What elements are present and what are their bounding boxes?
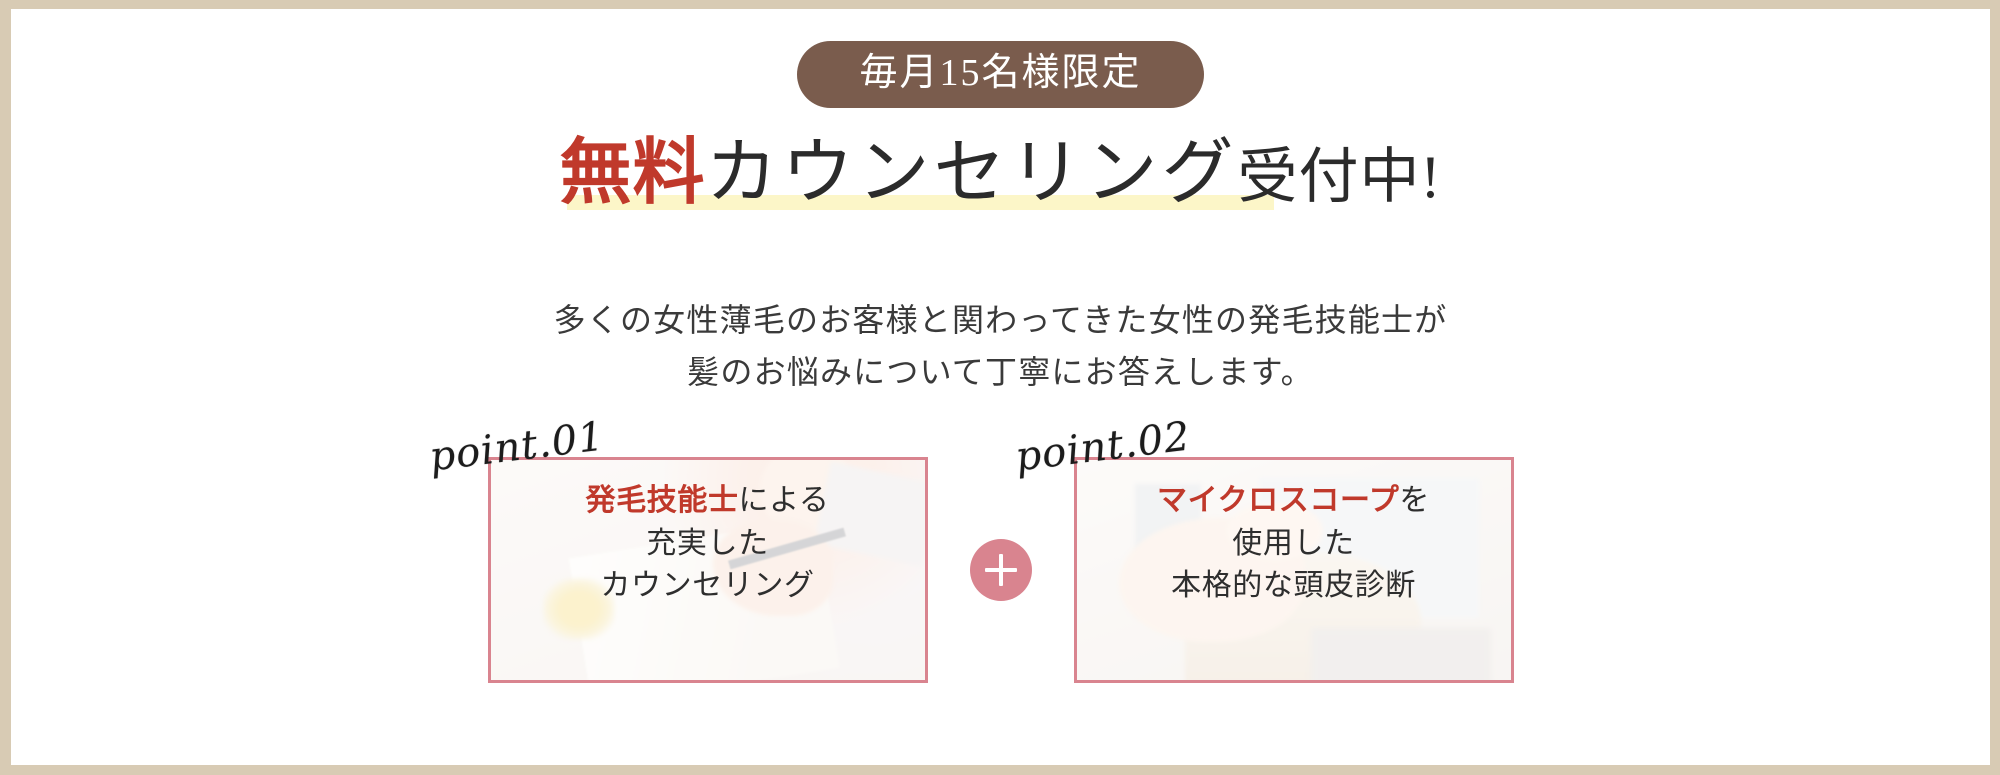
point-card-01-text: 発毛技能士による 充実した カウンセリング bbox=[491, 460, 925, 608]
point-02-line-2: 使用した bbox=[1077, 523, 1511, 566]
point-01-line-3: カウンセリング bbox=[491, 565, 925, 608]
plus-icon-vertical-bar bbox=[999, 554, 1003, 586]
point-card-01: point.01 発毛技能士による 充実した カウンセリング bbox=[488, 457, 928, 683]
headline-accepting-now: 受付中! bbox=[1238, 144, 1442, 210]
plus-icon bbox=[970, 539, 1032, 601]
page-frame: 毎月15名様限定 無料カウンセリング受付中! 多くの女性薄毛のお客様と関わってき… bbox=[0, 0, 2000, 775]
point-card-02-text: マイクロスコープを 使用した 本格的な頭皮診断 bbox=[1077, 460, 1511, 608]
headline-highlight-free: 無料 bbox=[559, 133, 705, 213]
point-card-02: point.02 マイクロスコープを 使用した 本格的な頭皮診断 bbox=[1074, 457, 1514, 683]
badge-container: 毎月15名様限定 bbox=[11, 41, 1990, 108]
point-02-line-3: 本格的な頭皮診断 bbox=[1077, 565, 1511, 608]
point-02-strong: マイクロスコープ bbox=[1157, 484, 1399, 517]
limited-offer-badge: 毎月15名様限定 bbox=[797, 41, 1203, 108]
page-content: 毎月15名様限定 無料カウンセリング受付中! 多くの女性薄毛のお客様と関わってき… bbox=[11, 9, 1990, 765]
point-01-line-2: 充実した bbox=[491, 523, 925, 566]
point-01-line-1-rest: による bbox=[739, 484, 830, 517]
page-title: 無料カウンセリング受付中! bbox=[559, 135, 1441, 213]
point-01-line-1: 発毛技能士による bbox=[491, 480, 925, 523]
headline-container: 無料カウンセリング受付中! bbox=[11, 135, 1990, 213]
point-01-strong: 発毛技能士 bbox=[586, 484, 739, 517]
points-row: point.01 発毛技能士による 充実した カウンセリング bbox=[11, 457, 1990, 683]
headline-counseling: カウンセリング bbox=[706, 133, 1238, 213]
lead-paragraph: 多くの女性薄毛のお客様と関わってきた女性の発毛技能士が 髪のお悩みについて丁寧に… bbox=[11, 295, 1990, 399]
point-02-line-1: マイクロスコープを bbox=[1077, 480, 1511, 523]
point-02-line-1-rest: を bbox=[1399, 484, 1430, 517]
lead-line-2: 髪のお悩みについて丁寧にお答えします。 bbox=[11, 347, 1990, 399]
lead-line-1: 多くの女性薄毛のお客様と関わってきた女性の発毛技能士が bbox=[11, 295, 1990, 347]
